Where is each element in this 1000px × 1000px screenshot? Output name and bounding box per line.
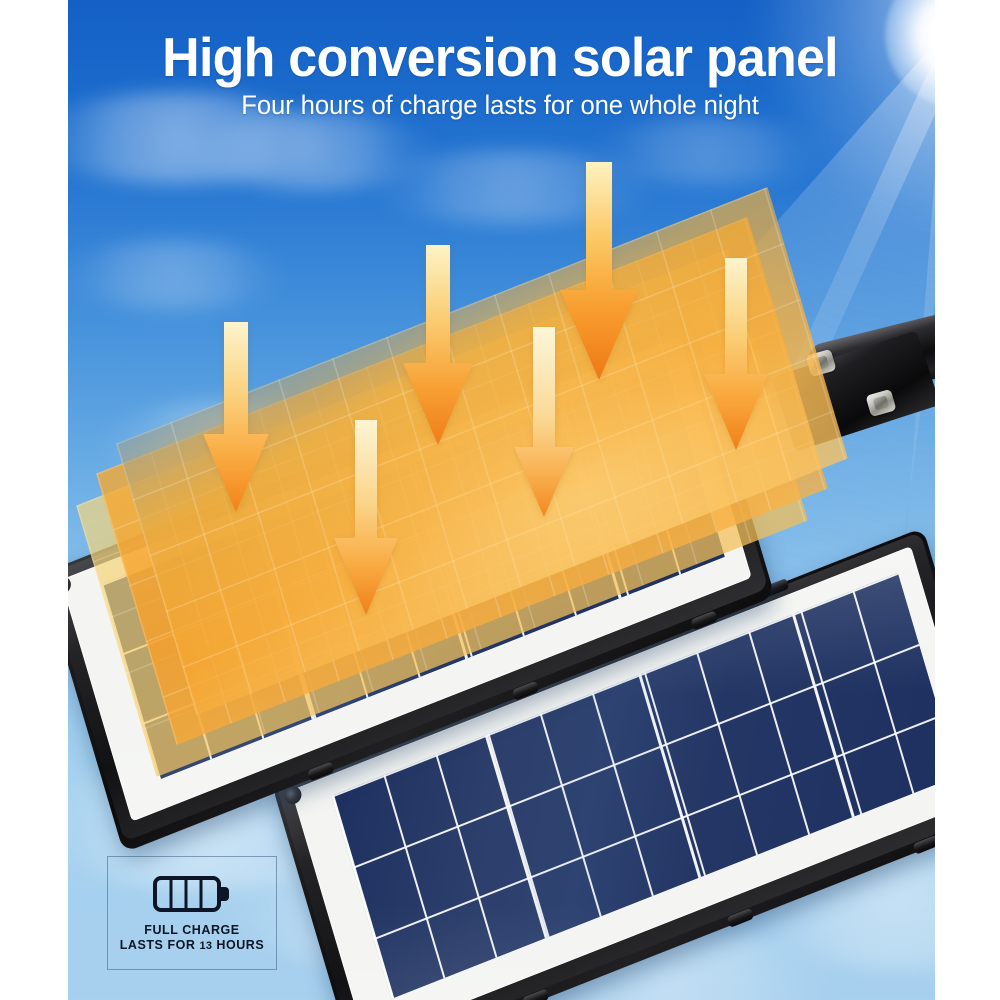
battery-full-icon	[153, 874, 231, 914]
badge-line-1: FULL CHARGE	[144, 923, 239, 938]
light-arrow	[203, 322, 269, 512]
light-arrow	[403, 245, 473, 445]
badge-line-2-prefix: LASTS FOR	[120, 938, 200, 952]
light-arrow	[334, 420, 398, 615]
badge-line-2: LASTS FOR 13 HOURS	[120, 938, 265, 954]
full-charge-badge: FULL CHARGE LASTS FOR 13 HOURS	[107, 856, 277, 970]
cloud	[68, 240, 288, 310]
photo-scene	[68, 0, 935, 1000]
product-marketing-image: High conversion solar panel Four hours o…	[0, 0, 1000, 1000]
badge-line-2-suffix: HOURS	[212, 938, 264, 952]
badge-hours-number: 13	[200, 940, 213, 952]
light-arrow	[704, 258, 768, 450]
light-arrow	[560, 162, 638, 380]
